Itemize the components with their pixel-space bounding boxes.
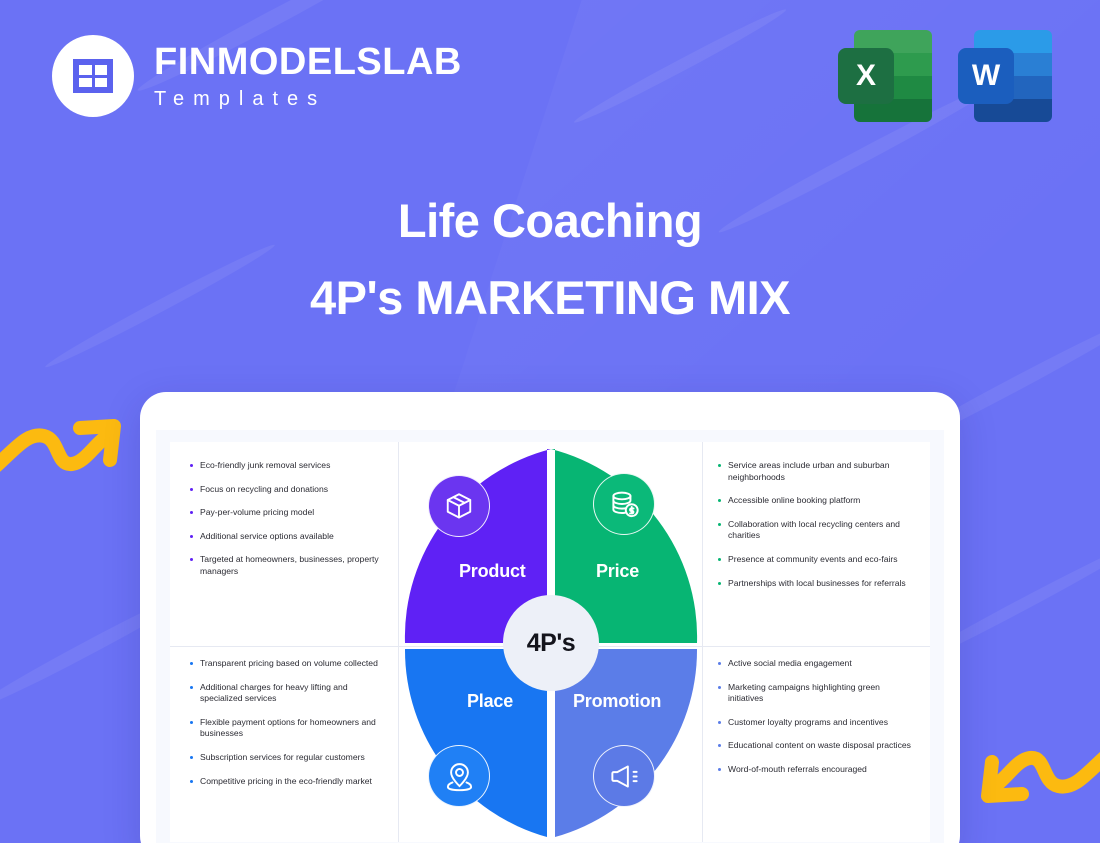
bullet-dot [190, 662, 193, 665]
excel-icon[interactable]: X [838, 26, 932, 122]
list-item-text: Flexible payment options for homeowners … [200, 717, 386, 740]
list-item-text: Competitive pricing in the eco-friendly … [200, 776, 372, 788]
list-item-text: Word-of-mouth referrals encouraged [728, 764, 867, 776]
title-line-2: 4P's MARKETING MIX [0, 273, 1100, 322]
bullet-dot [190, 686, 193, 689]
list-item: Additional charges for heavy lifting and… [190, 682, 386, 705]
excel-badge: X [838, 48, 894, 104]
divider-vertical-left [398, 442, 399, 842]
brand-subtitle: Templates [154, 89, 462, 109]
bullet-dot [190, 511, 193, 514]
bullet-list-price: Service areas include urban and suburban… [718, 460, 914, 601]
list-item: Subscription services for regular custom… [190, 752, 386, 764]
list-item: Focus on recycling and donations [190, 484, 386, 496]
list-item: Eco-friendly junk removal services [190, 460, 386, 472]
bullet-dot [190, 721, 193, 724]
list-item: Accessible online booking platform [718, 495, 914, 507]
bullet-dot [718, 558, 721, 561]
diagram-panel-outer: Eco-friendly junk removal services Focus… [156, 430, 944, 843]
bullet-dot [190, 464, 193, 467]
content-card: Eco-friendly junk removal services Focus… [140, 392, 960, 843]
bullet-dot [190, 756, 193, 759]
list-item-text: Educational content on waste disposal pr… [728, 740, 911, 752]
bullet-list-product: Eco-friendly junk removal services Focus… [190, 460, 386, 590]
office-format-icons: X W [838, 26, 1052, 122]
logo-mark [52, 35, 134, 117]
bullet-dot [190, 488, 193, 491]
bullet-dot [718, 686, 721, 689]
list-item: Service areas include urban and suburban… [718, 460, 914, 483]
bullet-dot [718, 721, 721, 724]
list-item: Educational content on waste disposal pr… [718, 740, 914, 752]
bullet-dot [718, 464, 721, 467]
4ps-wheel-diagram: 4P's Product Price Place Promotion [401, 445, 701, 841]
bullet-list-place: Transparent pricing based on volume coll… [190, 658, 386, 799]
squiggle-arrow-down-left-icon [978, 740, 1100, 830]
list-item-text: Partnerships with local businesses for r… [728, 578, 906, 590]
page-title: Life Coaching 4P's MARKETING MIX [0, 196, 1100, 323]
list-item: Active social media engagement [718, 658, 914, 670]
coins-dollar-icon [593, 473, 655, 535]
list-item: Pay-per-volume pricing model [190, 507, 386, 519]
bullet-dot [718, 499, 721, 502]
megaphone-icon [593, 745, 655, 807]
bullet-dot [190, 535, 193, 538]
list-item: Customer loyalty programs and incentives [718, 717, 914, 729]
list-item-text: Focus on recycling and donations [200, 484, 328, 496]
bullet-dot [718, 582, 721, 585]
bullet-dot [718, 523, 721, 526]
list-item: Partnerships with local businesses for r… [718, 578, 914, 590]
list-item-text: Marketing campaigns highlighting green i… [728, 682, 914, 705]
wheel-hub: 4P's [503, 595, 599, 691]
list-item-text: Eco-friendly junk removal services [200, 460, 330, 472]
list-item: Flexible payment options for homeowners … [190, 717, 386, 740]
list-item: Marketing campaigns highlighting green i… [718, 682, 914, 705]
list-item-text: Active social media engagement [728, 658, 852, 670]
brand-logo[interactable]: FINMODELSLAB Templates [52, 35, 462, 117]
quadrant-label-promotion: Promotion [573, 691, 661, 712]
squiggle-arrow-up-right-icon [0, 404, 124, 487]
box-icon [428, 475, 490, 537]
list-item-text: Additional charges for heavy lifting and… [200, 682, 386, 705]
list-item-text: Accessible online booking platform [728, 495, 860, 507]
list-item-text: Collaboration with local recycling cente… [728, 519, 914, 542]
list-item: Additional service options available [190, 531, 386, 543]
divider-vertical-right [702, 442, 703, 842]
title-line-1: Life Coaching [0, 196, 1100, 245]
list-item: Presence at community events and eco-fai… [718, 554, 914, 566]
location-pin-icon [428, 745, 490, 807]
bullet-dot [718, 744, 721, 747]
grid-square-icon [73, 59, 113, 93]
bullet-dot [190, 780, 193, 783]
list-item: Targeted at homeowners, businesses, prop… [190, 554, 386, 577]
diagram-panel: Eco-friendly junk removal services Focus… [170, 442, 930, 842]
list-item-text: Pay-per-volume pricing model [200, 507, 314, 519]
word-icon[interactable]: W [958, 26, 1052, 122]
list-item-text: Service areas include urban and suburban… [728, 460, 914, 483]
bullet-dot [718, 768, 721, 771]
word-badge: W [958, 48, 1014, 104]
list-item: Transparent pricing based on volume coll… [190, 658, 386, 670]
list-item: Word-of-mouth referrals encouraged [718, 764, 914, 776]
list-item-text: Customer loyalty programs and incentives [728, 717, 888, 729]
quadrant-label-price: Price [596, 561, 639, 582]
list-item-text: Subscription services for regular custom… [200, 752, 365, 764]
quadrant-label-place: Place [467, 691, 513, 712]
list-item-text: Presence at community events and eco-fai… [728, 554, 898, 566]
list-item-text: Transparent pricing based on volume coll… [200, 658, 378, 670]
slide-canvas: FINMODELSLAB Templates X W Life C [0, 0, 1100, 843]
bullet-dot [718, 662, 721, 665]
list-item-text: Additional service options available [200, 531, 334, 543]
brand-text: FINMODELSLAB Templates [154, 43, 462, 109]
bullet-list-promotion: Active social media engagement Marketing… [718, 658, 914, 788]
brush-streak [571, 4, 789, 127]
list-item: Competitive pricing in the eco-friendly … [190, 776, 386, 788]
brand-title: FINMODELSLAB [154, 43, 462, 81]
list-item-text: Targeted at homeowners, businesses, prop… [200, 554, 386, 577]
quadrant-label-product: Product [459, 561, 526, 582]
bullet-dot [190, 558, 193, 561]
list-item: Collaboration with local recycling cente… [718, 519, 914, 542]
